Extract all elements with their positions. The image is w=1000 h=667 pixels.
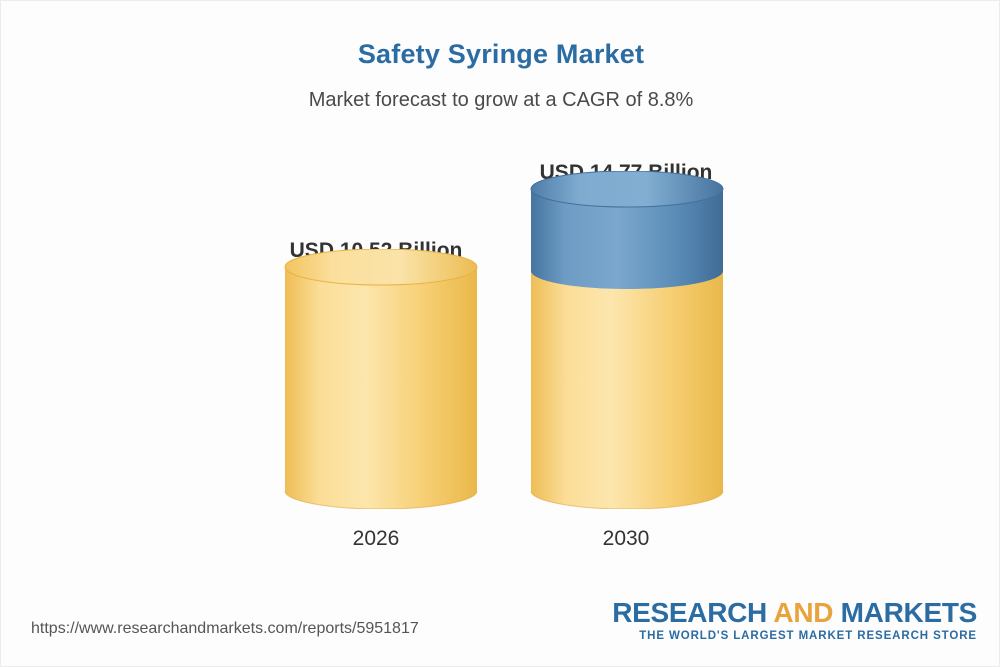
page-title: Safety Syringe Market	[1, 39, 1000, 70]
brand-name: RESEARCH AND MARKETS	[612, 598, 977, 627]
brand-and-text: AND	[773, 597, 833, 628]
source-url[interactable]: https://www.researchandmarkets.com/repor…	[31, 620, 419, 638]
brand-tagline: THE WORLD'S LARGEST MARKET RESEARCH STOR…	[612, 630, 977, 642]
chart-canvas: Safety Syringe Market Market forecast to…	[0, 0, 1000, 667]
category-label-2030: 2030	[446, 527, 806, 551]
bar-2030	[529, 171, 725, 509]
brand-markets-text: MARKETS	[833, 597, 977, 628]
brand-logo: RESEARCH AND MARKETS THE WORLD'S LARGEST…	[612, 598, 977, 642]
bar-2026	[283, 249, 479, 509]
brand-research-text: RESEARCH	[612, 597, 773, 628]
cylinder-chart: USD 10.52 Billion USD 14.77 Billion	[1, 131, 1000, 581]
page-subtitle: Market forecast to grow at a CAGR of 8.8…	[1, 89, 1000, 112]
